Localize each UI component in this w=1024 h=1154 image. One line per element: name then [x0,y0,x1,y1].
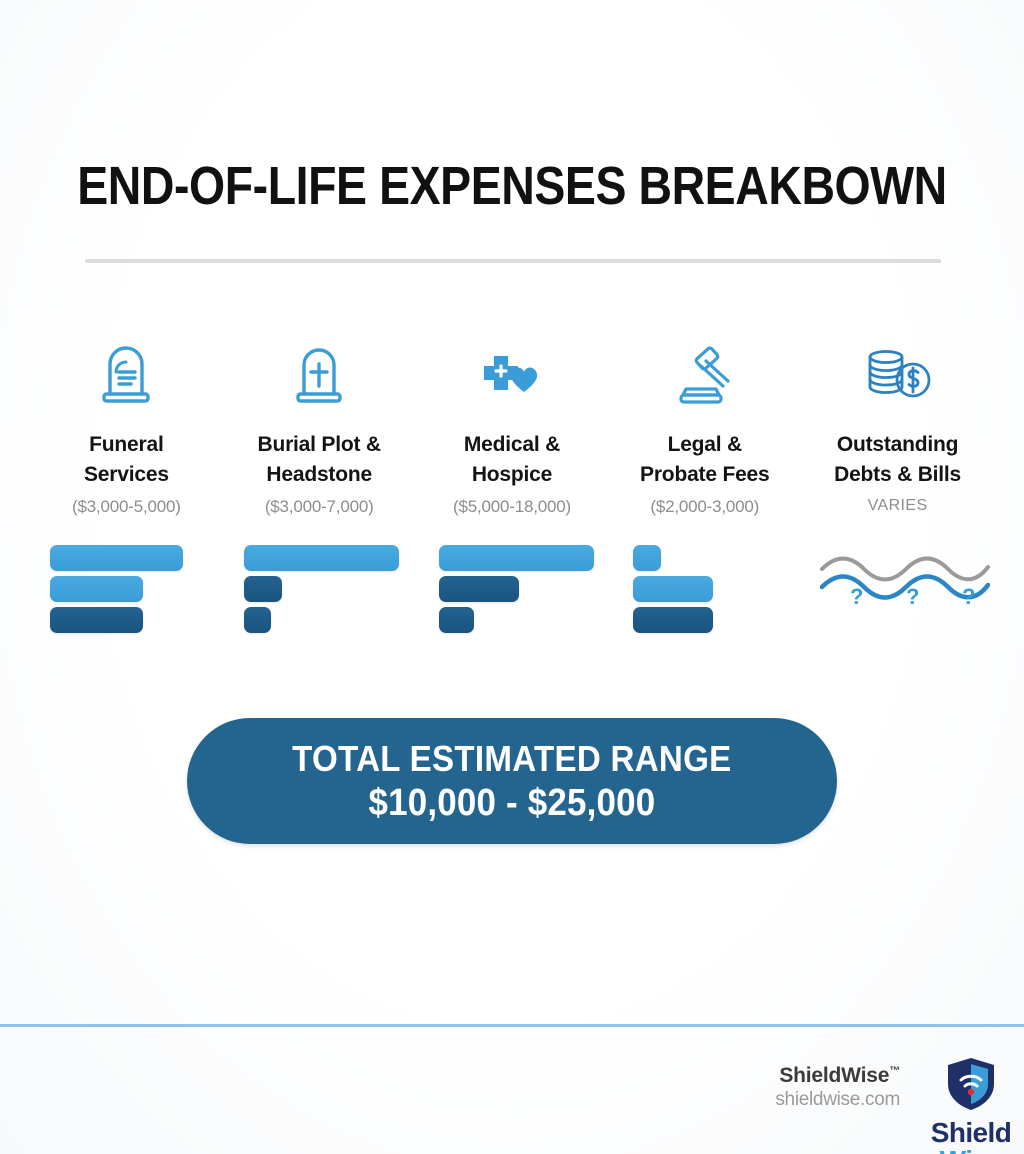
category-label-line2: Probate Fees [612,460,797,490]
headstone-document-icon [34,340,219,414]
shield-wifi-logo-icon [944,1056,998,1112]
total-range-heading: TOTAL ESTIMATED RANGE [292,738,731,780]
bar-chart: ? ? ? [30,545,994,638]
category-outstanding-debts-bills: Outstanding Debts & Bills VARIES [801,340,994,515]
category-legal-probate-fees: Legal & Probate Fees ($2,000-3,000) [608,340,801,517]
bar [244,576,282,602]
category-medical-hospice: Medical & Hospice ($5,000-18,000) [416,340,609,517]
bar [633,576,713,602]
medical-cross-heart-icon [420,340,605,414]
category-label-line1: Funeral [34,430,219,460]
infographic-canvas: END-OF-LIFE EXPENSES BREAKBOWN [0,0,1024,1154]
bar [244,607,271,633]
category-cost-range: VARIES [805,497,990,515]
bar [439,576,519,602]
bar-group-burial-plot-headstone [224,545,418,638]
shieldwise-logo[interactable]: Shield Wise [928,1056,1014,1154]
category-cost-range: ($3,000-7,000) [227,497,412,517]
brand-url[interactable]: shieldwise.com [775,1089,900,1111]
bar [50,607,143,633]
headstone-cross-icon [227,340,412,414]
category-row: Funeral Services ($3,000-5,000) Burial P… [30,340,994,517]
category-label: Outstanding Debts & Bills [805,430,990,490]
bar [50,545,183,571]
logo-word-shield: Shield [928,1119,1014,1147]
category-label-line1: Legal & [612,430,797,460]
category-label: Medical & Hospice [420,430,605,490]
category-cost-range: ($5,000-18,000) [420,497,605,517]
svg-text:?: ? [962,584,975,609]
logo-word-wise: Wise [928,1147,1014,1154]
trademark-symbol: ™ [889,1065,900,1077]
svg-text:?: ? [906,584,919,609]
category-burial-plot-headstone: Burial Plot & Headstone ($3,000-7,000) [223,340,416,517]
category-cost-range: ($2,000-3,000) [612,497,797,517]
total-estimated-range-badge: TOTAL ESTIMATED RANGE $10,000 - $25,000 [187,718,837,844]
svg-text:?: ? [850,584,863,609]
category-label-line1: Outstanding [805,430,990,460]
category-label-line1: Medical & [420,430,605,460]
bar-group-funeral-services [30,545,224,638]
total-range-amount: $10,000 - $25,000 [369,782,656,825]
category-label-line2: Services [34,460,219,490]
bar-group-medical-hospice [419,545,613,638]
category-label-line2: Debts & Bills [805,460,990,490]
page-title-wrap: END-OF-LIFE EXPENSES BREAKBOWN [0,158,1024,215]
brand-name-text: ShieldWise [779,1064,889,1087]
footer-brand: ShieldWise™ shieldwise.com [775,1064,900,1111]
category-label-line1: Burial Plot & [227,430,412,460]
category-label-line2: Hospice [420,460,605,490]
bar [50,576,143,602]
coin-stack-dollar-icon [805,340,990,414]
category-cost-range: ($3,000-5,000) [34,497,219,517]
bar [633,545,661,571]
wavy-question-marks-icon: ? ? ? [820,547,990,621]
category-label: Burial Plot & Headstone [227,430,412,490]
page-title: END-OF-LIFE EXPENSES BREAKBOWN [72,158,953,215]
gavel-icon [612,340,797,414]
bar [633,607,713,633]
category-label: Funeral Services [34,430,219,490]
bar-group-legal-probate-fees [613,545,807,638]
title-divider [85,259,941,263]
category-label: Legal & Probate Fees [612,430,797,490]
category-funeral-services: Funeral Services ($3,000-5,000) [30,340,223,517]
footer-divider [0,1024,1024,1027]
category-label-line2: Headstone [227,460,412,490]
bar [439,545,594,571]
bar [439,607,474,633]
brand-name: ShieldWise™ [775,1064,900,1088]
bar-group-outstanding-debts-bills: ? ? ? [808,545,994,626]
bar [244,545,399,571]
